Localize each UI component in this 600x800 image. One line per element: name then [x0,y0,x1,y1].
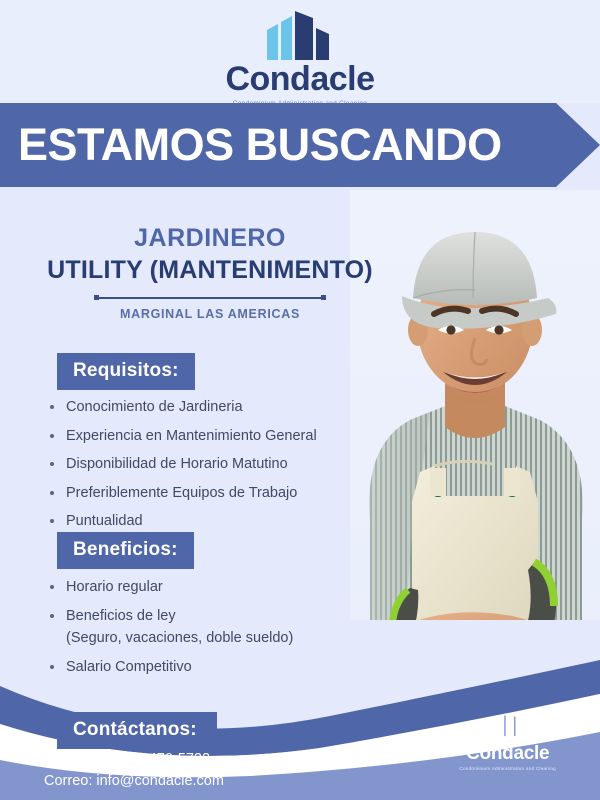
job-location: MARGINAL LAS AMERICAS [0,307,420,321]
whatsapp-line[interactable]: WhatsApp 849-470-5722 [44,748,224,770]
brand-logo-footer: Condacle Condominium Administration and … [459,706,556,771]
flyer-poster: Condacle Condominium Administration and … [0,0,600,800]
brand-name: Condacle [225,62,374,98]
requirements-label: Requisitos: [57,353,195,390]
list-item: Puntualidad [44,514,374,529]
building-skyline-icon [488,706,528,742]
list-item: Disponibilidad de Horario Matutino [44,457,374,472]
whatsapp-label: WhatsApp [44,751,116,767]
contact-label: Contáctanos: [57,712,217,749]
email-line[interactable]: Correo: info@condacle.com [44,770,224,792]
divider-dot-right [321,295,326,300]
job-title-line1: JARDINERO [0,222,420,254]
requirements-list: Conocimiento de Jardineria Experiencia e… [44,400,374,543]
benefits-list: Horario regular Beneficios de ley (Segur… [44,580,374,688]
title-divider [94,293,326,302]
contact-details: WhatsApp 849-470-5722 Correo: info@conda… [44,748,224,793]
divider-bar [98,297,322,299]
whatsapp-number: 849-470-5722 [120,751,210,767]
list-item: Salario Competitivo [44,660,374,675]
hero-headline: ESTAMOS BUSCANDO [0,119,502,171]
list-item: Preferiblemente Equipos de Trabajo [44,486,374,501]
building-skyline-icon [257,8,343,60]
brand-logo-top: Condacle Condominium Administration and … [0,8,600,107]
list-item: Conocimiento de Jardineria [44,400,374,415]
brand-tagline: Condominium Administration and Cleaning [459,766,556,771]
benefits-label: Beneficios: [57,532,194,569]
list-item: Horario regular [44,580,374,595]
list-item: Beneficios de ley [44,609,374,624]
benefits-detail-line: (Seguro, vacaciones, doble sueldo) [44,631,374,646]
hero-banner: ESTAMOS BUSCANDO [0,103,600,187]
header-zone: Condacle Condominium Administration and … [0,0,600,103]
brand-name: Condacle [466,744,549,763]
job-title-block: JARDINERO UTILITY (MANTENIMENTO) MARGINA… [0,222,420,321]
job-title-line2: UTILITY (MANTENIMENTO) [0,254,420,286]
list-item: Experiencia en Mantenimiento General [44,429,374,444]
